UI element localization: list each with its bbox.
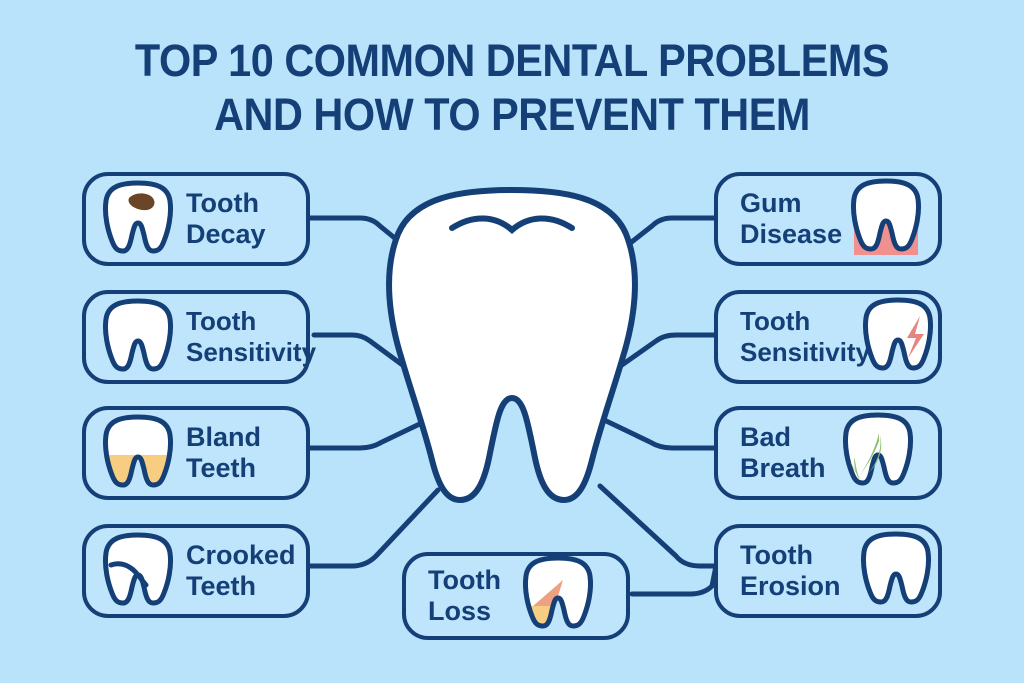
card-label-tooth-loss: Tooth Loss [428, 565, 501, 627]
tooth-bolt-icon [860, 296, 938, 379]
title-line-1: TOP 10 COMMON DENTAL PROBLEMS [41, 34, 983, 88]
card-bad-breath[interactable]: Bad Breath [714, 406, 942, 500]
page-title: TOP 10 COMMON DENTAL PROBLEMS AND HOW TO… [0, 34, 1024, 142]
card-tooth-sensitivity-left[interactable]: Tooth Sensitivity [82, 290, 310, 384]
card-tooth-loss[interactable]: Tooth Loss [402, 552, 630, 640]
tooth-plain-icon [857, 530, 935, 613]
card-label-crooked-teeth: Crooked Teeth [186, 540, 296, 602]
tooth-stained-icon [102, 413, 174, 494]
card-label-bad-breath: Bad Breath [740, 422, 826, 484]
center-molar-tooth-icon [378, 182, 646, 508]
tooth-decay-icon [102, 179, 174, 260]
card-tooth-decay[interactable]: Tooth Decay [82, 172, 310, 266]
card-label-tooth-sensitivity-right: Tooth Sensitivity [740, 306, 870, 368]
tooth-crooked-icon [102, 531, 174, 612]
connector-bottom-1 [632, 566, 716, 594]
card-bland-teeth[interactable]: Bland Teeth [82, 406, 310, 500]
card-label-tooth-sensitivity-left: Tooth Sensitivity [186, 306, 316, 368]
tooth-gum-icon [844, 175, 928, 264]
card-label-tooth-decay: Tooth Decay [186, 188, 266, 250]
infographic-canvas: TOP 10 COMMON DENTAL PROBLEMS AND HOW TO… [0, 0, 1024, 683]
card-label-bland-teeth: Bland Teeth [186, 422, 261, 484]
tooth-plain-icon [102, 297, 174, 378]
tooth-loss-icon [519, 554, 597, 639]
card-tooth-sensitivity-right[interactable]: Tooth Sensitivity [714, 290, 942, 384]
card-crooked-teeth[interactable]: Crooked Teeth [82, 524, 310, 618]
tooth-mint-icon [836, 411, 920, 496]
title-line-2: AND HOW TO PREVENT THEM [41, 88, 983, 142]
card-label-tooth-erosion: Tooth Erosion [740, 540, 841, 602]
card-tooth-erosion[interactable]: Tooth Erosion [714, 524, 942, 618]
card-gum-disease[interactable]: Gum Disease [714, 172, 942, 266]
card-label-gum-disease: Gum Disease [740, 188, 842, 250]
